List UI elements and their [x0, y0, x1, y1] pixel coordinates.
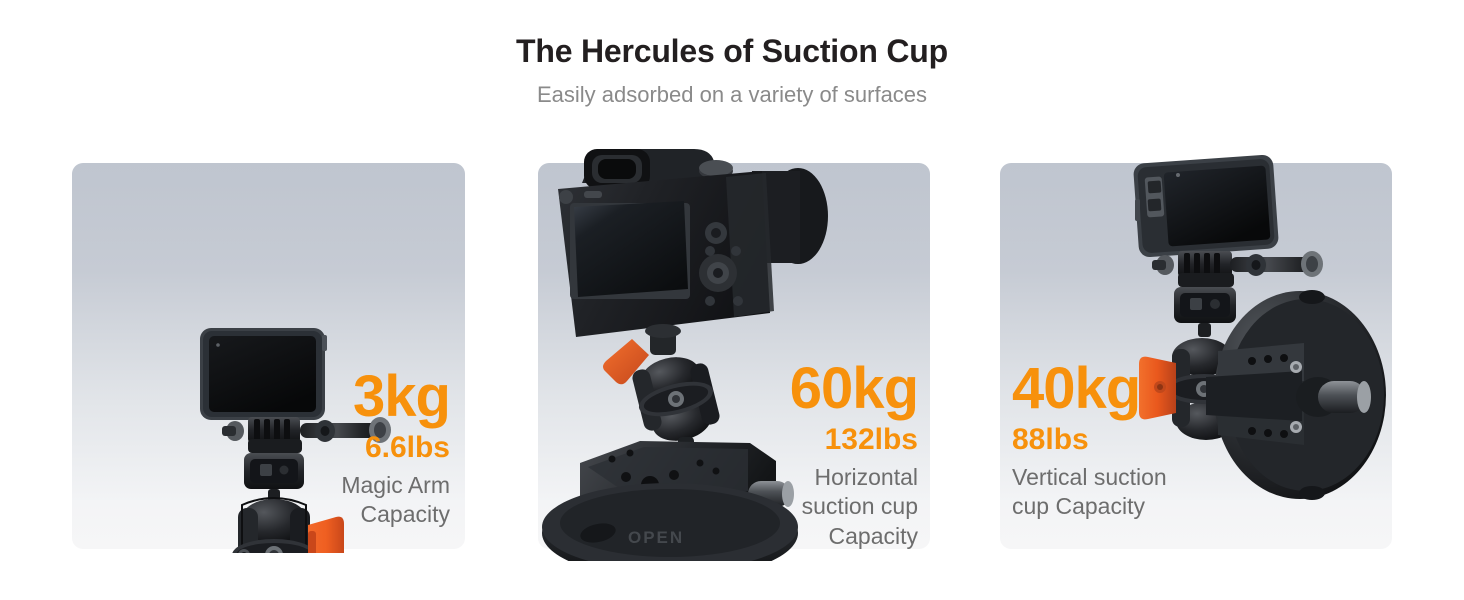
stat-lbs-value: 6.6lbs [235, 432, 450, 464]
capacity-line: Magic Arm [235, 471, 450, 500]
feature-panels-row: 3kg 6.6lbs Magic Arm Capacity [0, 163, 1464, 549]
page-header: The Hercules of Suction Cup Easily adsor… [0, 0, 1464, 107]
stat-block-vertical-suction-cup: 40kg 88lbs Vertical suction cup Capacity [1012, 361, 1242, 522]
upper-clamp [1174, 287, 1236, 337]
ball-head-mount [603, 324, 721, 455]
capacity-line: cup Capacity [1012, 492, 1242, 521]
stat-capacity-label: Horizontal suction cup Capacity [712, 463, 918, 551]
action-camera-body [1133, 154, 1279, 258]
stat-lbs-value: 132lbs [712, 424, 918, 456]
stat-capacity-label: Magic Arm Capacity [235, 471, 450, 529]
page-title: The Hercules of Suction Cup [0, 34, 1464, 69]
stat-block-horizontal-suction-cup: 60kg 132lbs Horizontal suction cup Capac… [712, 361, 918, 551]
capacity-line: suction cup [712, 492, 918, 521]
stat-lbs-value: 88lbs [1012, 424, 1242, 456]
page-subtitle: Easily adsorbed on a variety of surfaces [0, 83, 1464, 107]
capacity-line: Horizontal [712, 463, 918, 492]
capacity-line: Capacity [712, 522, 918, 551]
stat-kg-value: 40kg [1012, 361, 1242, 417]
gopro-mount-bracket [1152, 251, 1323, 287]
capacity-line: Vertical suction [1012, 463, 1242, 492]
stat-capacity-label: Vertical suction cup Capacity [1012, 463, 1242, 521]
stat-block-magic-arm: 3kg 6.6lbs Magic Arm Capacity [235, 369, 450, 530]
capacity-line: Capacity [235, 500, 450, 529]
mirrorless-camera-body [558, 149, 828, 337]
stat-kg-value: 3kg [235, 369, 450, 425]
stat-kg-value: 60kg [712, 361, 918, 417]
svg-text:OPEN: OPEN [628, 528, 684, 547]
